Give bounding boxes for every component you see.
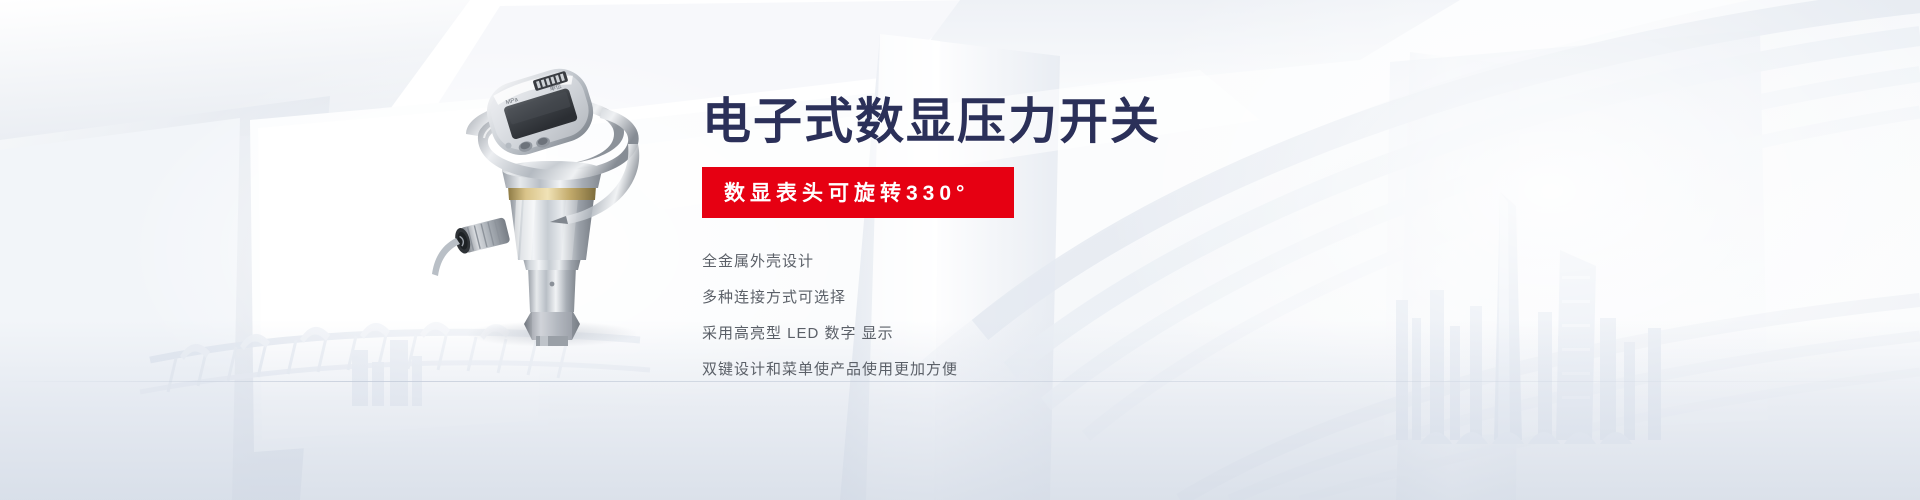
- banner-title: 电子式数显压力开关: [702, 96, 1222, 149]
- feature-item: 采用高亮型 LED 数字 显示: [702, 316, 1222, 352]
- banner-highlight-badge: 数显表头可旋转330°: [702, 167, 1014, 218]
- feature-item: 双键设计和菜单使产品使用更加方便: [702, 352, 1222, 388]
- pressure-switch-illustration: MPa 单位: [432, 48, 692, 348]
- feature-list: 全金属外壳设计 多种连接方式可选择 采用高亮型 LED 数字 显示 双键设计和菜…: [702, 244, 1222, 388]
- product-hero-banner: MPa 单位: [0, 0, 1920, 500]
- banner-copy: 电子式数显压力开关 数显表头可旋转330° 全金属外壳设计 多种连接方式可选择 …: [702, 96, 1222, 388]
- feature-item: 多种连接方式可选择: [702, 280, 1222, 316]
- product-image-digital-pressure-switch: MPa 单位: [432, 48, 692, 348]
- feature-item: 全金属外壳设计: [702, 244, 1222, 280]
